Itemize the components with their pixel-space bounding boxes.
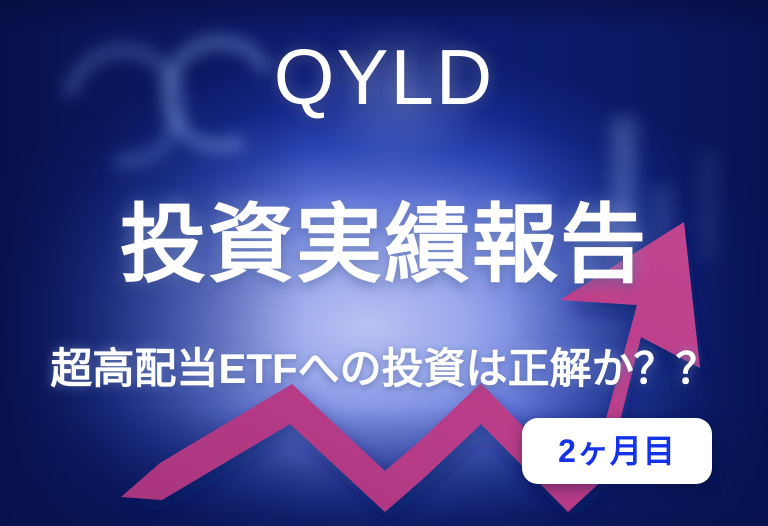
- ticker-title: QYLD: [0, 38, 768, 116]
- page-title: 投資実績報告: [0, 200, 768, 290]
- subtitle: 超高配当ETFへの投資は正解か？？: [0, 346, 768, 392]
- status-badge-label: 2ヶ月目: [558, 435, 676, 467]
- thumbnail-canvas: QYLD 投資実績報告 超高配当ETFへの投資は正解か？？ 2ヶ月目: [0, 0, 768, 526]
- status-badge: 2ヶ月目: [522, 418, 712, 484]
